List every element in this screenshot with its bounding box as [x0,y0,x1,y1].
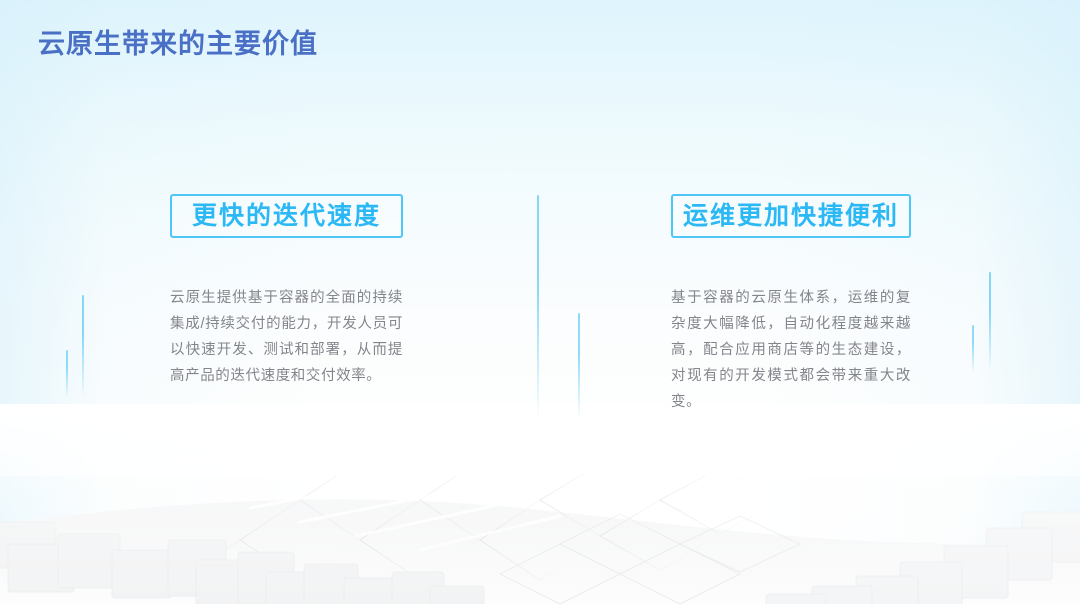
decorative-vertical-rule [578,313,580,420]
abstract-cube-landscape-art [0,404,1080,604]
value-column-2-body: 基于容器的云原生体系，运维的复杂度大幅降低，自动化程度越来越高，配合应用商店等的… [671,285,911,415]
decorative-vertical-rule [66,350,68,398]
value-column-2: 运维更加快捷便利 基于容器的云原生体系，运维的复杂度大幅降低，自动化程度越来越高… [671,194,911,415]
value-column-1-body: 云原生提供基于容器的全面的持续集成/持续交付的能力，开发人员可以快速开发、测试和… [170,285,403,389]
value-column-1-heading: 更快的迭代速度 [170,194,403,238]
decorative-vertical-rule [989,272,991,373]
page-title: 云原生带来的主要价值 [38,22,318,61]
decorative-vertical-rule [972,325,974,373]
value-column-2-heading: 运维更加快捷便利 [671,194,911,238]
slide-canvas: 云原生带来的主要价值 更快的迭代速度 云原生提供基于容器的全面的持续集成/持续交… [0,0,1080,604]
value-column-1: 更快的迭代速度 云原生提供基于容器的全面的持续集成/持续交付的能力，开发人员可以… [170,194,403,389]
decorative-vertical-rule [537,195,539,420]
decorative-vertical-rule [82,295,84,398]
